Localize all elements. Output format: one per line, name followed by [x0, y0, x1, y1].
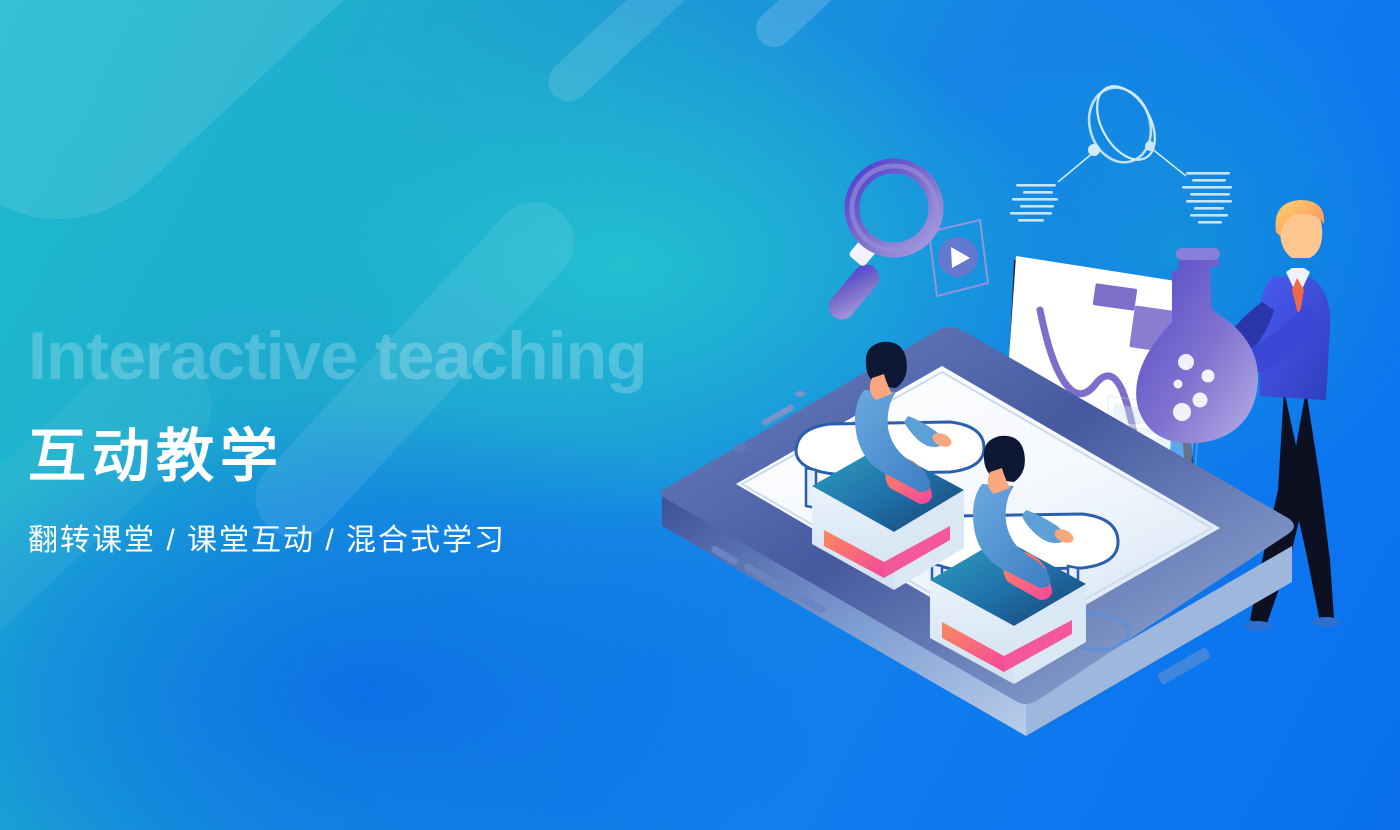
- flask-icon: [1136, 248, 1258, 443]
- orbit-text-left: [1010, 184, 1058, 222]
- diagonal-stripe-small: [749, 0, 942, 55]
- diagonal-stripe-large: [0, 0, 462, 272]
- subtitle-text: 翻转课堂 / 课堂互动 / 混合式学习: [28, 526, 647, 556]
- ghost-title: Interactive teaching: [28, 322, 647, 390]
- video-play-icon: [929, 220, 988, 296]
- interactive-teaching-banner: Interactive teaching 互动教学 翻转课堂 / 课堂互动 / …: [0, 0, 1400, 830]
- page-title: 互动教学: [28, 428, 647, 486]
- magnifier-icon: [823, 166, 936, 325]
- orbit-text-right: [1182, 172, 1232, 224]
- orbit-node-icon: [1010, 76, 1232, 223]
- illustration-isometric-classroom: [620, 60, 1400, 820]
- headline-block: Interactive teaching 互动教学 翻转课堂 / 课堂互动 / …: [28, 322, 647, 556]
- front-camera: [734, 444, 746, 452]
